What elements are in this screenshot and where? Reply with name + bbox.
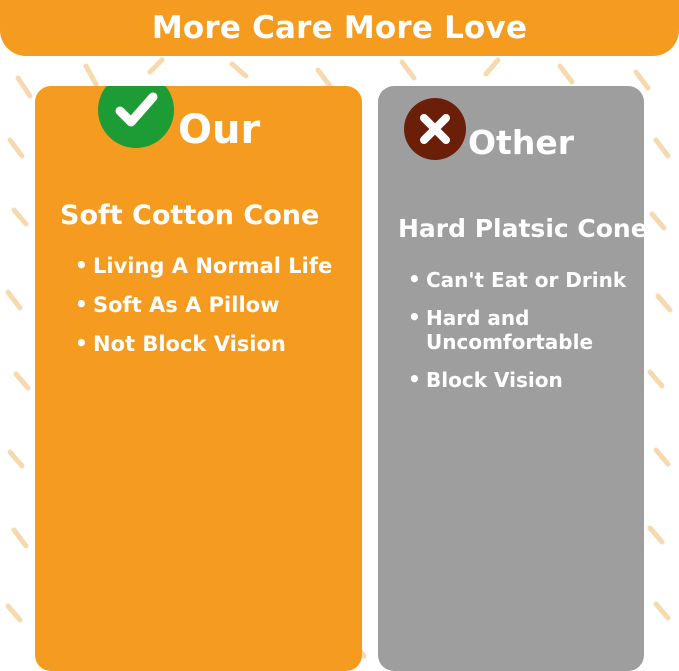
column-our-heading: Our (178, 110, 260, 150)
column-our-header: Our (35, 86, 362, 164)
column-other: Other Hard Platsic Cone Can't Eat or Dri… (378, 86, 644, 671)
list-item: Block Vision (408, 368, 640, 392)
column-other-bullets: Can't Eat or Drink Hard and Uncomfortabl… (408, 268, 640, 406)
column-our: Our Soft Cotton Cone Living A Normal Lif… (35, 86, 362, 671)
promo-graphic: More Care More Love Our Soft Cotton Cone… (0, 0, 679, 671)
column-other-header: Other (378, 86, 644, 164)
check-circle-icon (98, 86, 174, 148)
list-item: Soft As A Pillow (75, 293, 355, 318)
list-item: Living A Normal Life (75, 254, 355, 279)
cross-circle-icon (404, 98, 466, 160)
list-item: Hard and Uncomfortable (408, 306, 640, 354)
column-our-bullets: Living A Normal Life Soft As A Pillow No… (75, 254, 355, 372)
column-other-heading: Other (468, 126, 574, 159)
column-our-subtitle: Soft Cotton Cone (60, 201, 319, 231)
header-banner: More Care More Love (0, 0, 679, 56)
comparison-columns: Our Soft Cotton Cone Living A Normal Lif… (0, 56, 679, 671)
column-other-subtitle: Hard Platsic Cone (398, 215, 644, 243)
list-item: Can't Eat or Drink (408, 268, 640, 292)
list-item: Not Block Vision (75, 332, 355, 357)
page-title: More Care More Love (152, 13, 527, 44)
